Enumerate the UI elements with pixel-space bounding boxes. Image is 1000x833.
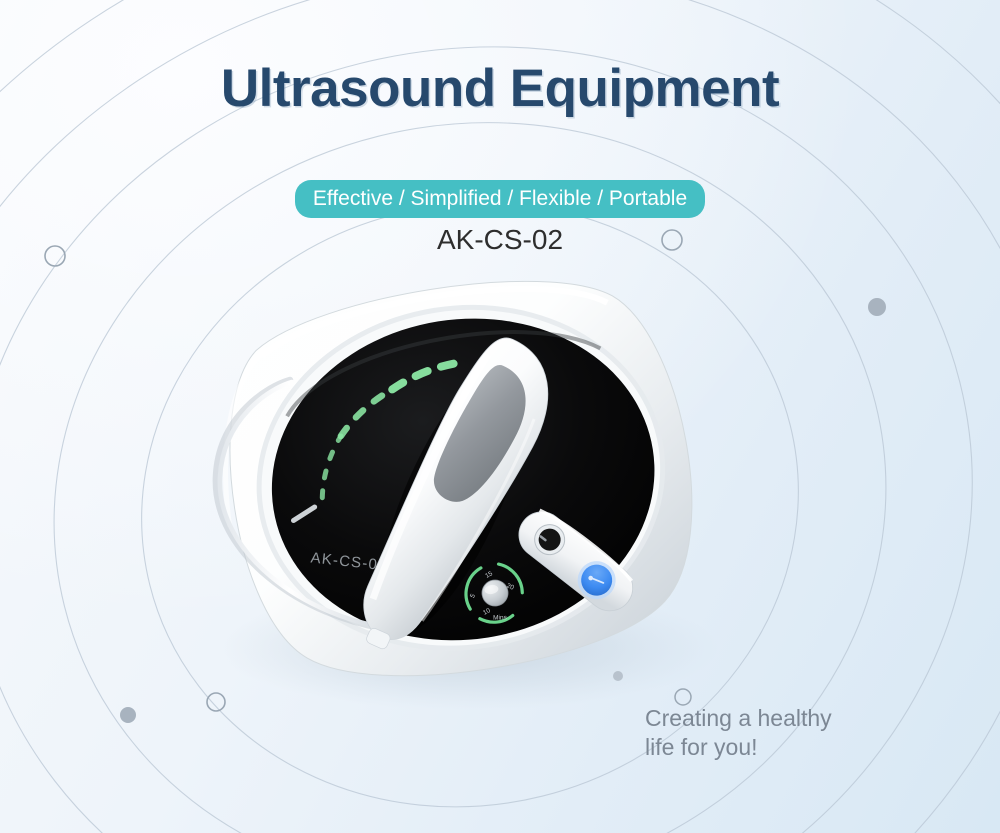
svg-text:Mins: Mins <box>493 614 508 621</box>
subtitle-banner: Effective / Simplified / Flexible / Port… <box>0 180 1000 218</box>
page-title: Ultrasound Equipment <box>0 58 1000 119</box>
tagline: Creating a healthy life for you! <box>645 704 832 762</box>
feature-pill: Effective / Simplified / Flexible / Port… <box>295 180 705 218</box>
model-number: AK-CS-02 <box>0 224 1000 256</box>
orbit-node-dot <box>120 707 136 723</box>
product-image: AK-CS-02 15 20 5 10 Mins <box>150 280 770 710</box>
product-banner: Ultrasound Equipment Effective / Simplif… <box>0 0 1000 833</box>
orbit-node-dot <box>868 298 886 316</box>
